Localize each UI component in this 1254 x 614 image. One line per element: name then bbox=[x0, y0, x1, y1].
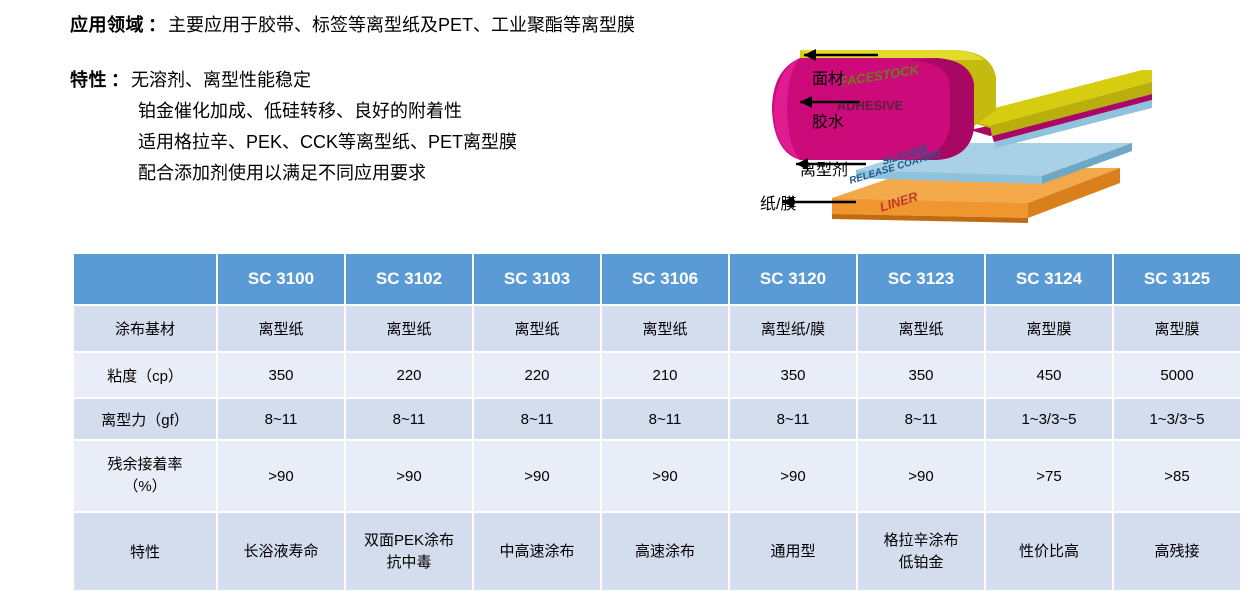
table-row: 残余接着率 （%） >90 >90 >90 >90 >90 >90 >75 >8… bbox=[74, 441, 1240, 511]
cell-release-sc3125: 1~3/3~5 bbox=[1114, 399, 1240, 439]
cell-substrate-sc3125: 离型膜 bbox=[1114, 306, 1240, 351]
table-corner-cell bbox=[74, 254, 216, 304]
row-label-residual-line2: （%） bbox=[77, 476, 213, 498]
cell-viscosity-sc3123: 350 bbox=[858, 353, 984, 397]
cell-feature-sc3120: 通用型 bbox=[730, 513, 856, 590]
cell-residual-sc3124: >75 bbox=[986, 441, 1112, 511]
diagram-label-release-agent: 离型剂 bbox=[800, 156, 848, 180]
features-paragraph: 特性 ： 无溶剂、离型性能稳定 铂金催化加成、低硅转移、良好的附着性 适用格拉辛… bbox=[70, 65, 770, 189]
cell-viscosity-sc3106: 210 bbox=[602, 353, 728, 397]
diagram-label-liner: 纸/膜 bbox=[760, 190, 796, 214]
table-row: 特性 长浴液寿命 双面PEK涂布抗中毒 中高速涂布 高速涂布 通用型 格拉辛涂布… bbox=[74, 513, 1240, 590]
column-header-sc3125: SC 3125 bbox=[1114, 254, 1240, 304]
features-label: 特性 bbox=[70, 65, 107, 96]
diagram-label-adhesive: 胶水 bbox=[812, 108, 844, 132]
features-row: 特性 ： 无溶剂、离型性能稳定 bbox=[70, 65, 770, 96]
cell-substrate-sc3124: 离型膜 bbox=[986, 306, 1112, 351]
features-line-1: 无溶剂、离型性能稳定 bbox=[131, 65, 311, 96]
cell-substrate-sc3100: 离型纸 bbox=[218, 306, 344, 351]
features-line-2: 铂金催化加成、低硅转移、良好的附着性 bbox=[70, 96, 770, 127]
cell-release-sc3123: 8~11 bbox=[858, 399, 984, 439]
table-row: 粘度（cp） 350 220 220 210 350 350 450 5000 bbox=[74, 353, 1240, 397]
product-description-block: 应用领域 ： 主要应用于胶带、标签等离型纸及PET、工业聚酯等离型膜 特性 ： … bbox=[70, 10, 770, 189]
column-header-sc3106: SC 3106 bbox=[602, 254, 728, 304]
cell-substrate-sc3106: 离型纸 bbox=[602, 306, 728, 351]
features-colon: ： bbox=[107, 65, 131, 96]
cell-residual-sc3103: >90 bbox=[474, 441, 600, 511]
cell-substrate-sc3123: 离型纸 bbox=[858, 306, 984, 351]
adhesive-layer-text: ADHESIVE bbox=[837, 98, 904, 113]
features-line-3: 适用格拉辛、PEK、CCK等离型纸、PET离型膜 bbox=[70, 127, 770, 158]
cell-feature-sc3123: 格拉辛涂布低铂金 bbox=[858, 513, 984, 590]
row-label-viscosity: 粘度（cp） bbox=[74, 353, 216, 397]
cell-feature-sc3124: 性价比高 bbox=[986, 513, 1112, 590]
diagram-label-facestock: 面材 bbox=[812, 65, 844, 89]
cell-viscosity-sc3125: 5000 bbox=[1114, 353, 1240, 397]
cell-residual-sc3123: >90 bbox=[858, 441, 984, 511]
cell-release-sc3103: 8~11 bbox=[474, 399, 600, 439]
row-label-release-force: 离型力（gf） bbox=[74, 399, 216, 439]
cell-residual-sc3100: >90 bbox=[218, 441, 344, 511]
cell-residual-sc3106: >90 bbox=[602, 441, 728, 511]
cell-feature-sc3103: 中高速涂布 bbox=[474, 513, 600, 590]
column-header-sc3102: SC 3102 bbox=[346, 254, 472, 304]
cell-viscosity-sc3120: 350 bbox=[730, 353, 856, 397]
cell-feature-sc3106: 高速涂布 bbox=[602, 513, 728, 590]
row-label-residual-line1: 残余接着率 bbox=[77, 454, 213, 476]
cell-viscosity-sc3100: 350 bbox=[218, 353, 344, 397]
row-label-residual-adhesion: 残余接着率 （%） bbox=[74, 441, 216, 511]
cell-feature-sc3100: 长浴液寿命 bbox=[218, 513, 344, 590]
cell-substrate-sc3102: 离型纸 bbox=[346, 306, 472, 351]
application-paragraph: 应用领域 ： 主要应用于胶带、标签等离型纸及PET、工业聚酯等离型膜 bbox=[70, 10, 770, 41]
cell-residual-sc3102: >90 bbox=[346, 441, 472, 511]
column-header-sc3120: SC 3120 bbox=[730, 254, 856, 304]
cell-release-sc3120: 8~11 bbox=[730, 399, 856, 439]
cell-substrate-sc3120: 离型纸/膜 bbox=[730, 306, 856, 351]
application-text: 主要应用于胶带、标签等离型纸及PET、工业聚酯等离型膜 bbox=[168, 10, 635, 41]
laminate-structure-diagram: FACESTOCK ADHESIVE SILICONE RELEASE COAT… bbox=[760, 18, 1254, 240]
column-header-sc3123: SC 3123 bbox=[858, 254, 984, 304]
cell-substrate-sc3103: 离型纸 bbox=[474, 306, 600, 351]
cell-release-sc3106: 8~11 bbox=[602, 399, 728, 439]
application-row: 应用领域 ： 主要应用于胶带、标签等离型纸及PET、工业聚酯等离型膜 bbox=[70, 10, 770, 41]
table-header-row: SC 3100 SC 3102 SC 3103 SC 3106 SC 3120 … bbox=[74, 254, 1240, 304]
product-spec-table: SC 3100 SC 3102 SC 3103 SC 3106 SC 3120 … bbox=[72, 252, 1242, 592]
column-header-sc3103: SC 3103 bbox=[474, 254, 600, 304]
cell-viscosity-sc3124: 450 bbox=[986, 353, 1112, 397]
cell-feature-sc3102: 双面PEK涂布抗中毒 bbox=[346, 513, 472, 590]
cell-feature-sc3125: 高残接 bbox=[1114, 513, 1240, 590]
table-row: 离型力（gf） 8~11 8~11 8~11 8~11 8~11 8~11 1~… bbox=[74, 399, 1240, 439]
cell-release-sc3100: 8~11 bbox=[218, 399, 344, 439]
row-label-feature: 特性 bbox=[74, 513, 216, 590]
column-header-sc3100: SC 3100 bbox=[218, 254, 344, 304]
cell-residual-sc3120: >90 bbox=[730, 441, 856, 511]
cell-viscosity-sc3103: 220 bbox=[474, 353, 600, 397]
cell-viscosity-sc3102: 220 bbox=[346, 353, 472, 397]
application-colon: ： bbox=[144, 10, 168, 41]
column-header-sc3124: SC 3124 bbox=[986, 254, 1112, 304]
application-label: 应用领域 bbox=[70, 10, 144, 41]
cell-release-sc3124: 1~3/3~5 bbox=[986, 399, 1112, 439]
cell-residual-sc3125: >85 bbox=[1114, 441, 1240, 511]
table-row: 涂布基材 离型纸 离型纸 离型纸 离型纸 离型纸/膜 离型纸 离型膜 离型膜 bbox=[74, 306, 1240, 351]
row-label-substrate: 涂布基材 bbox=[74, 306, 216, 351]
cell-release-sc3102: 8~11 bbox=[346, 399, 472, 439]
features-line-4: 配合添加剂使用以满足不同应用要求 bbox=[70, 158, 770, 189]
